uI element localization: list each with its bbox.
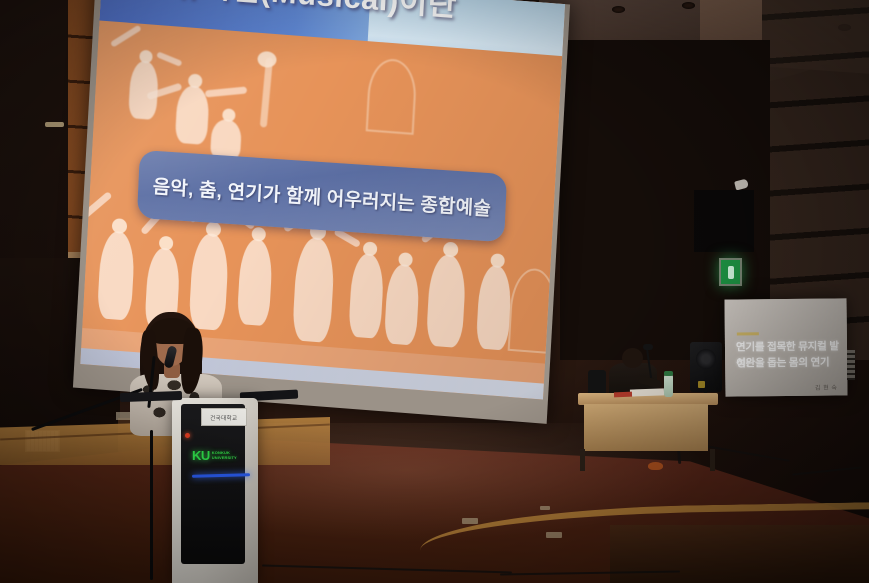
ceiling-light xyxy=(612,6,625,13)
loudspeaker xyxy=(690,342,722,392)
auditorium-scene: 뮤지컬(Musical)이란 음악, 춤, 연기가 함께 어우러지는 종합예술 … xyxy=(0,0,869,583)
exit-sign xyxy=(719,258,742,286)
monitor-accent-bar xyxy=(737,332,759,335)
shoe xyxy=(648,462,663,470)
stage-front-face xyxy=(610,525,869,583)
monitor-title-line2: 이완을 돕는 몸의 연기 xyxy=(736,354,840,371)
floor-marker-tape xyxy=(540,506,550,510)
speaker-badge xyxy=(698,381,705,388)
slide-callout-text: 음악, 춤, 연기가 함께 어우러지는 종합예술 xyxy=(152,171,491,220)
secondary-display: 연기를 접목한 뮤지컬 발성: 이완을 돕는 몸의 연기 김 현 숙 xyxy=(724,298,847,396)
desk-leg xyxy=(580,449,585,471)
ku-logo: KU KONKUK UNIVERSITY xyxy=(192,448,240,463)
monitor-side-vent xyxy=(847,350,855,380)
podium-front-panel: 건국대학교 KU KONKUK UNIVERSITY xyxy=(181,404,245,564)
exit-running-man-icon xyxy=(728,266,734,279)
slide-photo-top xyxy=(102,27,408,170)
monitor-presenter-name: 김 현 숙 xyxy=(815,382,837,391)
podium-nameplate: 건국대학교 xyxy=(201,408,247,426)
podium: 건국대학교 KU KONKUK UNIVERSITY xyxy=(172,398,258,583)
speaker-cone-icon xyxy=(696,349,716,369)
seated-head xyxy=(622,348,643,368)
podium-shelf xyxy=(120,391,182,402)
desk-microphone-head xyxy=(643,344,653,350)
floor-marker-tape xyxy=(546,532,562,538)
podium-power-led xyxy=(185,433,190,438)
ceiling-light xyxy=(682,2,695,9)
desk-leg xyxy=(710,449,715,471)
desk-red-item xyxy=(614,392,632,398)
secondary-display-screen: 연기를 접목한 뮤지컬 발성: 이완을 돕는 몸의 연기 김 현 숙 xyxy=(724,298,847,396)
desk-papers xyxy=(630,388,664,396)
water-bottle xyxy=(664,375,673,397)
wall-dark-panel xyxy=(694,190,754,252)
ku-logo-subtitle: KONKUK UNIVERSITY xyxy=(212,451,237,460)
microphone-stand-pole xyxy=(150,430,153,580)
floor-marker-tape xyxy=(462,518,478,524)
desk xyxy=(578,393,718,471)
ku-logo-mark: KU xyxy=(192,449,210,462)
desk-front-panel xyxy=(584,404,708,451)
door-handle[interactable] xyxy=(45,122,64,127)
ku-logo-line2: UNIVERSITY xyxy=(212,455,237,460)
water-bottle-cap xyxy=(664,371,673,376)
podium-led-strip xyxy=(192,473,250,478)
podium-nameplate-text: 건국대학교 xyxy=(210,413,237,421)
